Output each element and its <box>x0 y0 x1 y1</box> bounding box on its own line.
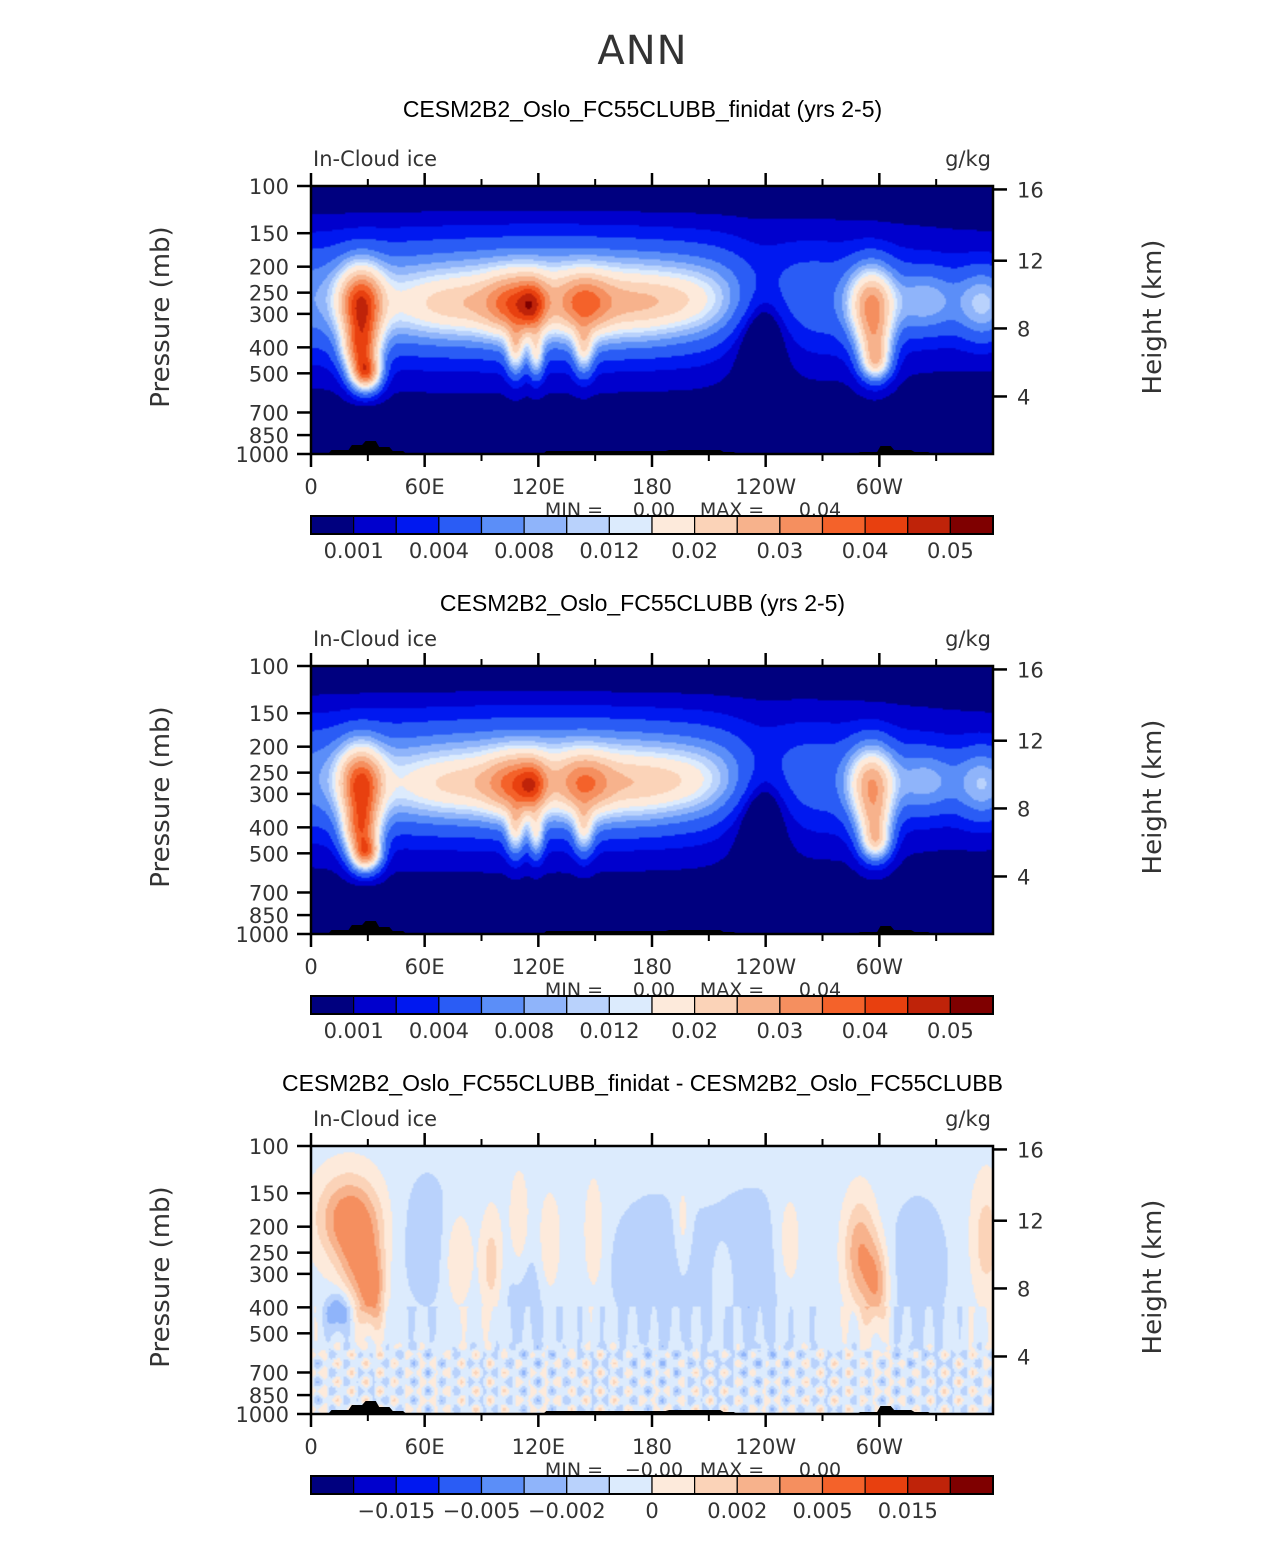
panel-2-title: CESM2B2_Oslo_FC55CLUBB (yrs 2-5) <box>0 590 1285 617</box>
colorbar-tick-label: 0.05 <box>927 539 974 563</box>
y-height-tick-label: 4 <box>1017 865 1030 889</box>
colorbar-segment <box>908 1476 951 1494</box>
colorbar-segment <box>482 996 525 1014</box>
x-tick-label: 60W <box>856 955 904 979</box>
colorbar-segment <box>609 996 652 1014</box>
colorbar-segment <box>780 1476 823 1494</box>
units-label: g/kg <box>945 147 991 171</box>
colorbar-tick-label: 0.004 <box>409 539 469 563</box>
x-tick-label: 0 <box>304 955 317 979</box>
y-pressure-tick-label: 150 <box>249 222 289 246</box>
colorbar-segment <box>865 996 908 1014</box>
y-pressure-tick-label: 100 <box>249 1135 289 1159</box>
panel-1-plot: 060E120E180120W60W1001502002503004005007… <box>0 120 1285 590</box>
panel-2-y2-axis-title: Height (km) <box>1138 647 1168 947</box>
colorbar-segment <box>354 516 397 534</box>
colorbar-segment <box>567 996 610 1014</box>
panel-2-y-axis-title: Pressure (mb) <box>146 647 176 947</box>
colorbar-tick-label: 0.02 <box>671 539 718 563</box>
colorbar-segment <box>524 996 567 1014</box>
colorbar-segment <box>354 996 397 1014</box>
y-height-tick-label: 8 <box>1017 317 1030 341</box>
y-pressure-tick-label: 200 <box>249 736 289 760</box>
x-tick-label: 120W <box>735 1435 796 1459</box>
colorbar-segment <box>311 996 354 1014</box>
x-tick-label: 120E <box>512 1435 565 1459</box>
x-tick-label: 120W <box>735 955 796 979</box>
y-height-tick-label: 12 <box>1017 1210 1044 1234</box>
x-tick-label: 60E <box>405 475 445 499</box>
y-pressure-tick-label: 500 <box>249 1322 289 1346</box>
colorbar-tick-label: 0.008 <box>494 1019 554 1043</box>
y-pressure-tick-label: 1000 <box>236 1403 289 1427</box>
y-pressure-tick-label: 500 <box>249 842 289 866</box>
figure-suptitle: ANN <box>0 28 1285 74</box>
field-label: In-Cloud ice <box>313 627 437 651</box>
colorbar-segment <box>524 516 567 534</box>
colorbar-tick-label: 0.001 <box>324 539 384 563</box>
y-pressure-tick-label: 400 <box>249 336 289 360</box>
units-label: g/kg <box>945 627 991 651</box>
colorbar-tick-label: 0.012 <box>579 539 639 563</box>
colorbar-tick-label: 0.04 <box>842 1019 889 1043</box>
colorbar: 0.0010.0040.0080.0120.020.030.040.05 <box>311 516 993 563</box>
colorbar-segment <box>609 1476 652 1494</box>
y-height-tick-label: 4 <box>1017 1345 1030 1369</box>
colorbar-segment <box>823 1476 866 1494</box>
colorbar-segment <box>950 516 993 534</box>
panel-1-y2-axis-title: Height (km) <box>1138 167 1168 467</box>
y-height-tick-label: 12 <box>1017 730 1044 754</box>
y-pressure-tick-label: 200 <box>249 256 289 280</box>
colorbar-segment <box>311 1476 354 1494</box>
colorbar-segment <box>652 996 695 1014</box>
contour-field <box>311 186 993 454</box>
colorbar-tick-label: 0.001 <box>324 1019 384 1043</box>
colorbar-segment <box>908 996 951 1014</box>
x-tick-label: 180 <box>632 955 672 979</box>
colorbar: −0.015−0.005−0.00200.0020.0050.015 <box>311 1476 993 1523</box>
colorbar-tick-label: 0.02 <box>671 1019 718 1043</box>
colorbar-segment <box>482 1476 525 1494</box>
colorbar-segment <box>439 996 482 1014</box>
colorbar-segment <box>567 1476 610 1494</box>
y-pressure-tick-label: 1000 <box>236 443 289 467</box>
colorbar-segment <box>865 516 908 534</box>
units-label: g/kg <box>945 1107 991 1131</box>
colorbar-tick-label: 0.005 <box>792 1499 852 1523</box>
y-pressure-tick-label: 700 <box>249 881 289 905</box>
contour-field <box>311 1146 993 1414</box>
x-tick-label: 60W <box>856 475 904 499</box>
colorbar-segment <box>482 516 525 534</box>
colorbar-segment <box>396 1476 439 1494</box>
colorbar-segment <box>695 1476 738 1494</box>
y-pressure-tick-label: 150 <box>249 702 289 726</box>
colorbar-segment <box>524 1476 567 1494</box>
colorbar-tick-label: 0 <box>645 1499 658 1523</box>
x-tick-label: 180 <box>632 475 672 499</box>
colorbar-segment <box>950 1476 993 1494</box>
contour-field <box>311 666 993 934</box>
colorbar-segment <box>354 1476 397 1494</box>
colorbar-segment <box>652 1476 695 1494</box>
colorbar-segment <box>780 516 823 534</box>
colorbar-tick-label: 0.03 <box>756 539 803 563</box>
x-tick-label: 60W <box>856 1435 904 1459</box>
colorbar-tick-label: 0.002 <box>707 1499 767 1523</box>
y-pressure-tick-label: 300 <box>249 1263 289 1287</box>
colorbar-tick-label: −0.015 <box>357 1499 435 1523</box>
y-height-tick-label: 8 <box>1017 797 1030 821</box>
y-pressure-tick-label: 150 <box>249 1182 289 1206</box>
colorbar-tick-label: 0.03 <box>756 1019 803 1043</box>
y-pressure-tick-label: 400 <box>249 1296 289 1320</box>
colorbar-tick-label: 0.015 <box>878 1499 938 1523</box>
y-pressure-tick-label: 200 <box>249 1216 289 1240</box>
colorbar-segment <box>737 1476 780 1494</box>
colorbar-segment <box>737 996 780 1014</box>
colorbar-segment <box>439 1476 482 1494</box>
x-tick-label: 60E <box>405 1435 445 1459</box>
x-tick-label: 0 <box>304 1435 317 1459</box>
x-tick-label: 0 <box>304 475 317 499</box>
y-pressure-tick-label: 300 <box>249 303 289 327</box>
y-pressure-tick-label: 100 <box>249 175 289 199</box>
colorbar-tick-label: −0.005 <box>443 1499 521 1523</box>
y-height-tick-label: 4 <box>1017 385 1030 409</box>
y-height-tick-label: 16 <box>1017 178 1044 202</box>
colorbar-segment <box>823 996 866 1014</box>
colorbar-segment <box>311 516 354 534</box>
colorbar-segment <box>737 516 780 534</box>
panel-1-y-axis-title: Pressure (mb) <box>146 167 176 467</box>
y-pressure-tick-label: 400 <box>249 816 289 840</box>
colorbar-segment <box>439 516 482 534</box>
colorbar-segment <box>609 516 652 534</box>
colorbar-tick-label: 0.004 <box>409 1019 469 1043</box>
colorbar-segment <box>823 516 866 534</box>
y-pressure-tick-label: 500 <box>249 362 289 386</box>
panel-3-y2-axis-title: Height (km) <box>1138 1127 1168 1427</box>
y-pressure-tick-label: 700 <box>249 401 289 425</box>
colorbar-tick-label: 0.008 <box>494 539 554 563</box>
colorbar-tick-label: 0.012 <box>579 1019 639 1043</box>
colorbar-segment <box>695 516 738 534</box>
y-pressure-tick-label: 700 <box>249 1361 289 1385</box>
colorbar-tick-label: −0.002 <box>528 1499 606 1523</box>
colorbar-segment <box>695 996 738 1014</box>
x-tick-label: 180 <box>632 1435 672 1459</box>
y-pressure-tick-label: 100 <box>249 655 289 679</box>
field-label: In-Cloud ice <box>313 147 437 171</box>
y-pressure-tick-label: 1000 <box>236 923 289 947</box>
y-height-tick-label: 16 <box>1017 658 1044 682</box>
panel-3-y-axis-title: Pressure (mb) <box>146 1127 176 1427</box>
colorbar-segment <box>950 996 993 1014</box>
colorbar-segment <box>865 1476 908 1494</box>
y-pressure-tick-label: 300 <box>249 783 289 807</box>
colorbar-segment <box>396 516 439 534</box>
panel-2-plot: 060E120E180120W60W1001502002503004005007… <box>0 600 1285 1070</box>
colorbar-segment <box>780 996 823 1014</box>
x-tick-label: 120E <box>512 955 565 979</box>
x-tick-label: 120W <box>735 475 796 499</box>
field-label: In-Cloud ice <box>313 1107 437 1131</box>
x-tick-label: 60E <box>405 955 445 979</box>
panel-3-plot: 060E120E180120W60W1001502002503004005007… <box>0 1080 1285 1550</box>
panel-1-title: CESM2B2_Oslo_FC55CLUBB_finidat (yrs 2-5) <box>0 96 1285 123</box>
x-tick-label: 120E <box>512 475 565 499</box>
colorbar: 0.0010.0040.0080.0120.020.030.040.05 <box>311 996 993 1043</box>
colorbar-tick-label: 0.04 <box>842 539 889 563</box>
colorbar-tick-label: 0.05 <box>927 1019 974 1043</box>
panel-3-title: CESM2B2_Oslo_FC55CLUBB_finidat - CESM2B2… <box>0 1070 1285 1097</box>
y-height-tick-label: 16 <box>1017 1138 1044 1162</box>
colorbar-segment <box>652 516 695 534</box>
colorbar-segment <box>396 996 439 1014</box>
colorbar-segment <box>567 516 610 534</box>
y-height-tick-label: 8 <box>1017 1277 1030 1301</box>
colorbar-segment <box>908 516 951 534</box>
y-height-tick-label: 12 <box>1017 250 1044 274</box>
